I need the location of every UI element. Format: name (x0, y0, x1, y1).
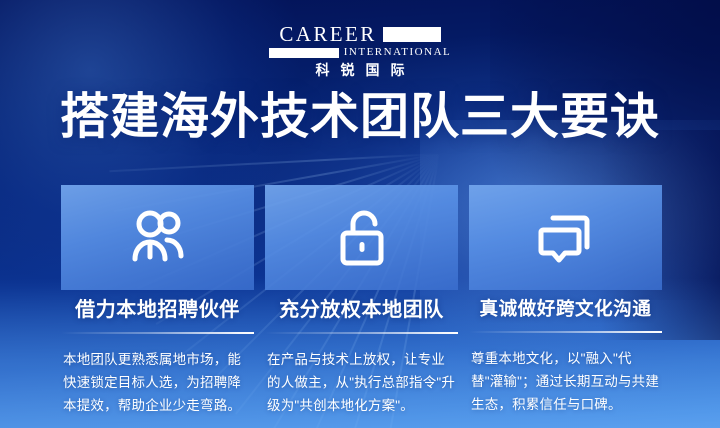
feature-columns: 借力本地招聘伙伴 本地团队更熟悉属地市场，能快速锁定目标人选，为招聘降本提效，帮… (61, 185, 663, 418)
open-padlock-icon (334, 208, 390, 268)
white-bar-block-icon (383, 27, 441, 42)
feature-column-1: 借力本地招聘伙伴 本地团队更熟悉属地市场，能快速锁定目标人选，为招聘降本提效，帮… (61, 185, 254, 418)
page-title: 搭建海外技术团队三大要诀 (0, 90, 720, 145)
poster-canvas: CAREER INTERNATIONAL 科锐国际 搭建海外技术团队三大要诀 借… (0, 0, 720, 428)
logo-secondary-row: INTERNATIONAL (269, 47, 451, 58)
logo-career-text: CAREER (279, 24, 376, 45)
logo-chinese-name: 科锐国际 (305, 63, 416, 77)
icon-panel-3 (469, 185, 662, 290)
feature-divider-3 (469, 331, 662, 333)
white-bar-block-icon (269, 48, 339, 58)
feature-body-2: 在产品与技术上放权，让专业的人做主，从"执行总部指令"升级为"共创本地化方案"。 (265, 348, 458, 418)
feature-title-1: 借力本地招聘伙伴 (61, 300, 254, 320)
feature-title-3: 真诚做好跨文化沟通 (469, 300, 662, 319)
icon-panel-2 (265, 185, 458, 290)
feature-column-2: 充分放权本地团队 在产品与技术上放权，让专业的人做主，从"执行总部指令"升级为"… (265, 185, 458, 418)
chat-bubbles-icon (536, 210, 596, 266)
logo-primary-row: CAREER (279, 24, 440, 45)
brand-logo: CAREER INTERNATIONAL 科锐国际 (0, 24, 720, 77)
logo-international-text: INTERNATIONAL (344, 47, 451, 58)
feature-divider-1 (61, 332, 254, 334)
feature-body-3: 尊重本地文化，以"融入"代替"灌输"；通过长期互动与共建生态，积累信任与口碑。 (469, 347, 662, 417)
feature-column-3: 真诚做好跨文化沟通 尊重本地文化，以"融入"代替"灌输"；通过长期互动与共建生态… (469, 185, 662, 418)
icon-panel-1 (61, 185, 254, 290)
feature-divider-2 (265, 332, 458, 334)
feature-title-2: 充分放权本地团队 (265, 300, 458, 320)
two-people-icon (127, 209, 189, 267)
feature-body-1: 本地团队更熟悉属地市场，能快速锁定目标人选，为招聘降本提效，帮助企业少走弯路。 (61, 348, 254, 418)
